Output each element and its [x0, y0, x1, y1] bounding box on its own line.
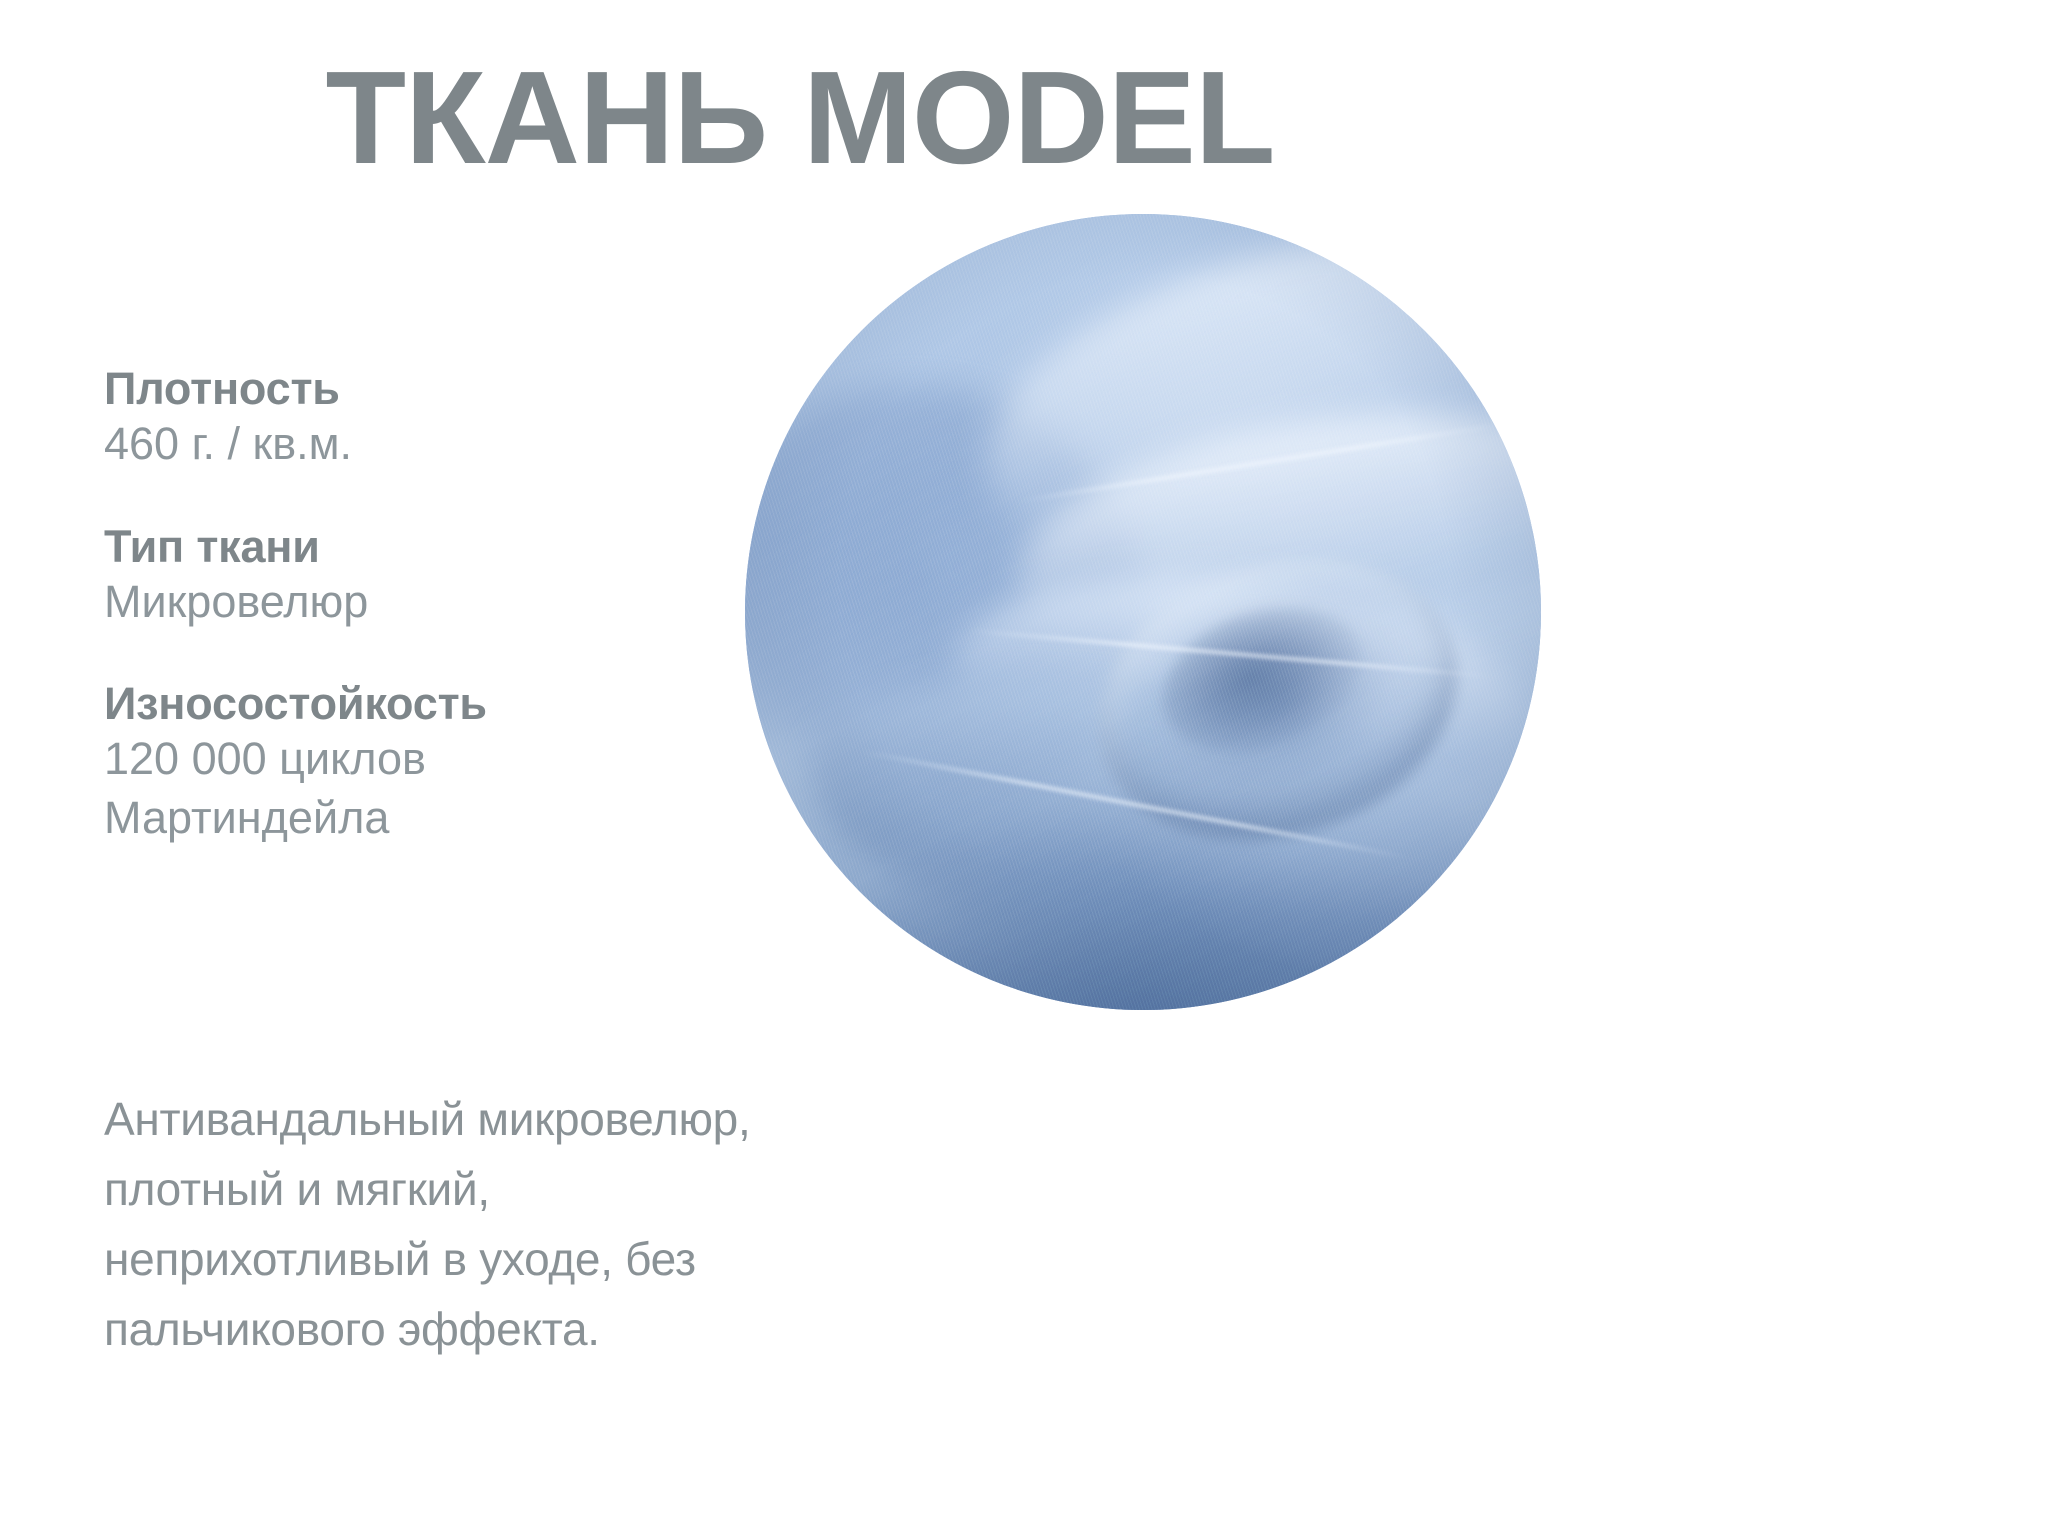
fabric-vignette	[745, 214, 1541, 1010]
description-line-3: неприхотливый в уходе, без	[104, 1225, 1004, 1295]
description-line-4: пальчикового эффекта.	[104, 1295, 1004, 1365]
fabric-photo-circle	[745, 214, 1541, 1010]
fabric-spec-slide: ТКАНЬ MODEL Плотность 460 г. / кв.м. Тип…	[0, 0, 2048, 1536]
description-line-1: Антивандальный микровелюр,	[104, 1085, 1004, 1155]
description-line-2: плотный и мягкий,	[104, 1155, 1004, 1225]
description-paragraph: Антивандальный микровелюр, плотный и мяг…	[104, 1085, 1004, 1365]
page-title: ТКАНЬ MODEL	[0, 52, 1600, 184]
